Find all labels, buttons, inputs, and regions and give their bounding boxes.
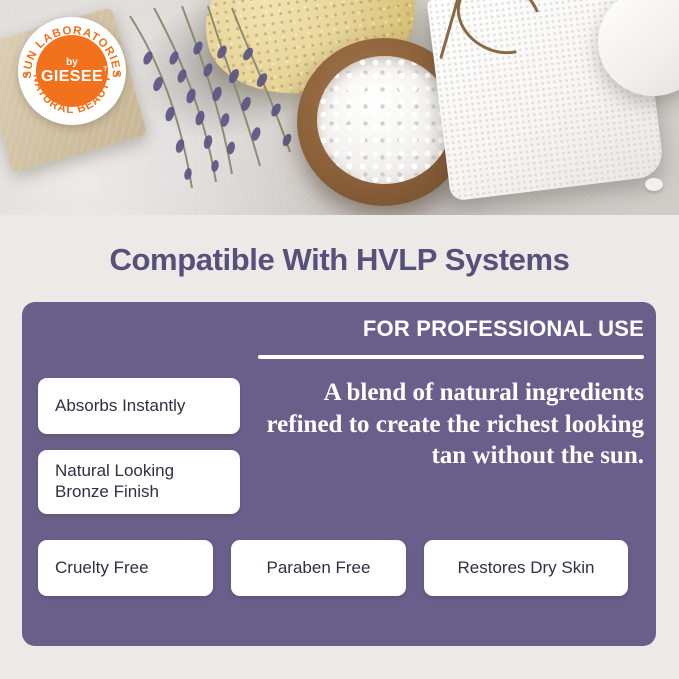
professional-use-title: FOR PROFESSIONAL USE (258, 316, 644, 342)
lavender-sprigs (120, 6, 320, 196)
bath-salt (317, 56, 452, 184)
feature-pill[interactable]: Natural Looking Bronze Finish (38, 450, 240, 514)
trademark-icon: TM (104, 67, 113, 73)
panel-right-column: FOR PROFESSIONAL USE A blend of natural … (258, 316, 644, 472)
divider (258, 355, 644, 359)
badge-inner-circle: by GIESEE TM (36, 35, 108, 107)
badge-brand-name-text: GIESEE (41, 68, 103, 85)
feature-pill[interactable]: Restores Dry Skin (424, 540, 628, 596)
features-panel: FOR PROFESSIONAL USE A blend of natural … (22, 302, 656, 646)
feature-pill[interactable]: Absorbs Instantly (38, 378, 240, 434)
lavender-svg (120, 6, 320, 196)
page-title: Compatible With HVLP Systems (0, 242, 679, 278)
badge-dot (25, 72, 28, 75)
badge-by-label: by (66, 58, 78, 68)
brand-logo-badge: SUN LABORATORIES NATURAL BEAUTY by GIESE… (18, 17, 126, 125)
product-description: A blend of natural ingredients refined t… (258, 377, 644, 472)
badge-brand-name: GIESEE TM (41, 69, 103, 85)
pebble (645, 178, 663, 191)
badge-dot (116, 72, 119, 75)
feature-pill[interactable]: Cruelty Free (38, 540, 213, 596)
feature-pill[interactable]: Paraben Free (231, 540, 406, 596)
